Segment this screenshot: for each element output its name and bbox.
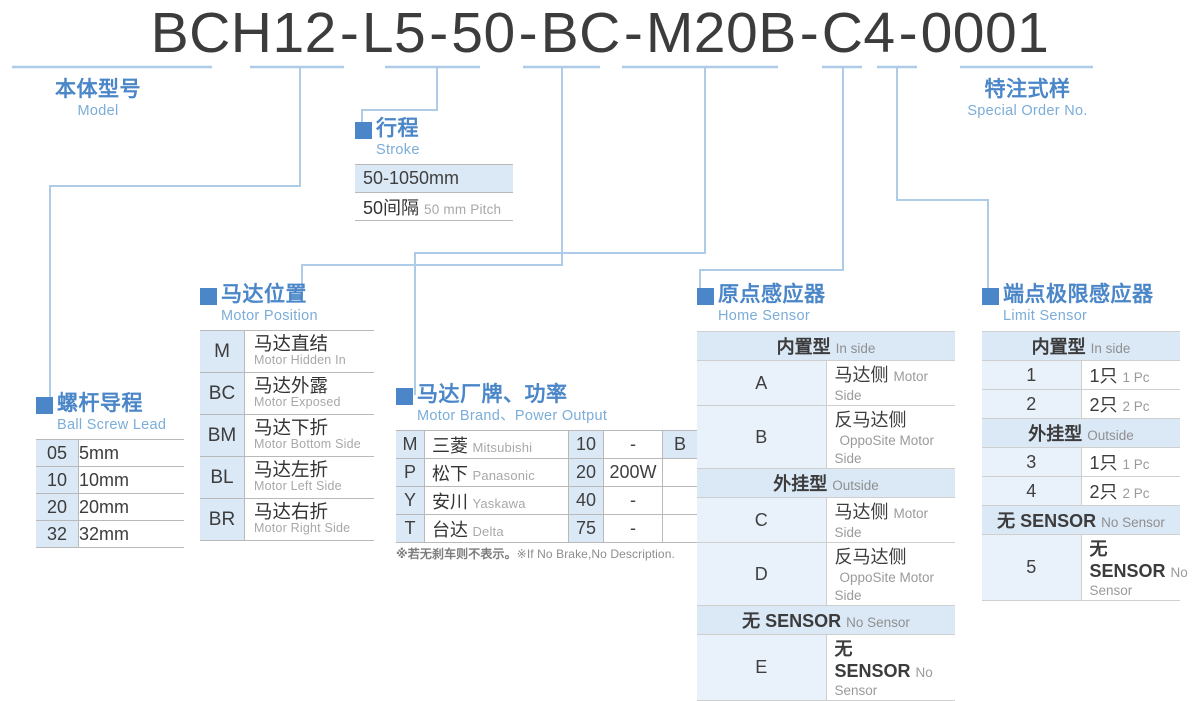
motor-brand-table: M 三菱 Mitsubishi 10 - B P 松下 Panasonic 20…: [396, 430, 697, 543]
model-segment-1: BCH12: [151, 4, 337, 62]
motor-position-desc: 马达直结 Motor Hidden In: [245, 331, 375, 373]
limit-sensor-code: 5: [982, 535, 1081, 601]
brand-name-cn: 安川: [432, 492, 468, 512]
table-row: 1 1只1 Pc: [982, 361, 1180, 390]
group-model-title-cn: 本体型号: [55, 78, 141, 102]
group-ball-screw-lead: 螺杆导程 Ball Screw Lead 05 5mm 10 10mm 20 2…: [36, 392, 184, 548]
table-row: B 反马达侧OppoSite Motor Side: [697, 406, 955, 469]
table-row: P 松下 Panasonic 20 200W: [396, 459, 697, 487]
group-lead-header: 螺杆导程: [36, 392, 184, 416]
table-row: M 三菱 Mitsubishi 10 - B: [396, 431, 697, 459]
group-limit-sensor-header: 端点极限感应器: [982, 283, 1180, 307]
group-motor-brand-title-en: Motor Brand、Power Output: [417, 407, 697, 425]
power-value: -: [604, 487, 663, 515]
power-code: 10: [569, 431, 604, 459]
model-dash: -: [516, 4, 541, 62]
group-motor-position: 马达位置 Motor Position M 马达直结 Motor Hidden …: [200, 283, 374, 541]
motor-position-desc-en: Motor Bottom Side: [254, 437, 374, 453]
table-row: 内置型In side: [697, 332, 955, 361]
band-label-en: No Sensor: [846, 615, 910, 630]
band-label-cn: 外挂型: [1028, 424, 1082, 444]
group-motor-position-title-en: Motor Position: [221, 307, 374, 325]
home-sensor-desc-en: OppoSite Motor Side: [835, 433, 935, 466]
brand-name-en: Panasonic: [472, 468, 535, 483]
limit-sensor-code: 1: [982, 361, 1081, 390]
stroke-pitch-cn: 50间隔: [363, 198, 419, 218]
limit-sensor-band: 内置型In side: [982, 332, 1180, 361]
table-row: D 反马达侧OppoSite Motor Side: [697, 543, 955, 606]
home-sensor-band: 无 SENSORNo Sensor: [697, 606, 955, 635]
home-sensor-desc-cn: 无 SENSOR: [835, 639, 911, 681]
lead-value: 10mm: [79, 467, 185, 494]
motor-position-desc-cn: 马达左折: [254, 460, 374, 479]
motor-position-code: BL: [200, 457, 245, 499]
limit-sensor-desc: 1只1 Pc: [1081, 361, 1180, 390]
brand-name: 台达 Delta: [425, 515, 569, 543]
group-stroke-title-cn: 行程: [376, 117, 419, 141]
band-label-cn: 内置型: [1032, 337, 1086, 357]
home-sensor-code: C: [697, 498, 826, 543]
table-row: A 马达侧Motor Side: [697, 361, 955, 406]
motor-position-code: BR: [200, 499, 245, 541]
band-label-en: Outside: [1087, 428, 1134, 443]
group-motor-position-header: 马达位置: [200, 283, 374, 307]
group-motor-brand: 马达厂牌、功率 Motor Brand、Power Output M 三菱 Mi…: [396, 383, 697, 562]
table-row: 外挂型Outside: [697, 469, 955, 498]
table-row: Y 安川 Yaskawa 40 -: [396, 487, 697, 515]
table-row: 外挂型Outside: [982, 419, 1180, 448]
group-special-order-title-cn: 特注式样: [940, 78, 1115, 102]
ball-screw-lead-table: 05 5mm 10 10mm 20 20mm 32 32mm: [36, 439, 184, 548]
limit-sensor-code: 2: [982, 390, 1081, 419]
table-row: BR 马达右折 Motor Right Side: [200, 499, 374, 541]
model-dash: -: [426, 4, 451, 62]
limit-sensor-desc: 2只2 Pc: [1081, 390, 1180, 419]
brand-name: 松下 Panasonic: [425, 459, 569, 487]
brand-name: 三菱 Mitsubishi: [425, 431, 569, 459]
band-label-en: In side: [836, 341, 876, 356]
group-model-title-en: Model: [55, 102, 141, 120]
motor-position-desc-cn: 马达下折: [254, 418, 374, 437]
limit-sensor-desc: 2只2 Pc: [1081, 477, 1180, 506]
motor-position-desc-cn: 马达直结: [254, 334, 374, 353]
band-label-en: Outside: [832, 478, 879, 493]
model-segment-6: C4: [822, 4, 896, 62]
brand-code: P: [396, 459, 425, 487]
square-bullet-icon: [36, 397, 53, 414]
motor-brand-note-en: ※If No Brake,No Description.: [517, 547, 675, 561]
group-stroke-header: 行程: [355, 117, 513, 141]
motor-position-desc: 马达右折 Motor Right Side: [245, 499, 375, 541]
limit-sensor-desc-en: 2 Pc: [1123, 399, 1150, 414]
group-motor-brand-header: 马达厂牌、功率: [396, 383, 697, 407]
power-value: 200W: [604, 459, 663, 487]
stroke-range-cell: 50-1050mm: [355, 165, 513, 193]
table-row: 10 10mm: [36, 467, 184, 494]
motor-position-code: BC: [200, 373, 245, 415]
motor-brand-note-cn: ※若无刹车则不表示。: [396, 547, 517, 561]
lead-code: 32: [36, 521, 79, 548]
band-label-cn: 外挂型: [773, 474, 827, 494]
brake-code: [663, 487, 698, 515]
home-sensor-code: D: [697, 543, 826, 606]
motor-position-desc: 马达下折 Motor Bottom Side: [245, 415, 375, 457]
home-sensor-desc: 马达侧Motor Side: [826, 498, 955, 543]
table-row: 4 2只2 Pc: [982, 477, 1180, 506]
band-label-cn: 内置型: [777, 337, 831, 357]
motor-position-desc-en: Motor Right Side: [254, 521, 374, 537]
table-row: BC 马达外露 Motor Exposed: [200, 373, 374, 415]
limit-sensor-desc-en: 1 Pc: [1123, 370, 1150, 385]
model-segment-4: BC: [541, 4, 621, 62]
model-number: BCH12 - L5 - 50 - BC - M20B - C4 - 0001: [0, 4, 1200, 62]
group-home-sensor-title-cn: 原点感应器: [718, 283, 826, 307]
home-sensor-desc: 无 SENSORNo Sensor: [826, 635, 955, 701]
table-row: 20 20mm: [36, 494, 184, 521]
band-label-cn: 无 SENSOR: [997, 511, 1096, 531]
square-bullet-icon: [200, 288, 217, 305]
limit-sensor-desc-cn: 1只: [1090, 453, 1118, 473]
group-stroke: 行程 Stroke 50-1050mm 50间隔 50 mm Pitch: [355, 117, 513, 221]
lead-code: 20: [36, 494, 79, 521]
brand-code: M: [396, 431, 425, 459]
group-special-order-title-en: Special Order No.: [940, 102, 1115, 120]
table-row: 50间隔 50 mm Pitch: [355, 193, 513, 221]
model-segment-2: L5: [362, 4, 426, 62]
home-sensor-desc: 马达侧Motor Side: [826, 361, 955, 406]
model-segment-3: 50: [451, 4, 515, 62]
motor-position-desc-cn: 马达右折: [254, 502, 374, 521]
square-bullet-icon: [396, 388, 413, 405]
home-sensor-band: 内置型In side: [697, 332, 955, 361]
group-limit-sensor: 端点极限感应器 Limit Sensor 内置型In side 1 1只1 Pc…: [982, 283, 1180, 601]
band-label-en: No Sensor: [1101, 515, 1165, 530]
model-segment-7: 0001: [921, 4, 1050, 62]
square-bullet-icon: [982, 288, 999, 305]
limit-sensor-desc-cn: 2只: [1090, 482, 1118, 502]
lead-code: 10: [36, 467, 79, 494]
home-sensor-desc-cn: 马达侧: [835, 365, 889, 385]
group-motor-brand-title-cn: 马达厂牌、功率: [417, 383, 568, 407]
limit-sensor-table: 内置型In side 1 1只1 Pc 2 2只2 Pc 外挂型Outside: [982, 331, 1180, 601]
home-sensor-desc: 反马达侧OppoSite Motor Side: [826, 543, 955, 606]
limit-sensor-desc-en: 2 Pc: [1123, 486, 1150, 501]
limit-sensor-code: 4: [982, 477, 1081, 506]
brand-name-en: Mitsubishi: [472, 440, 532, 455]
table-row: M 马达直结 Motor Hidden In: [200, 331, 374, 373]
motor-position-desc-en: Motor Hidden In: [254, 353, 374, 369]
brake-code: B: [663, 431, 698, 459]
group-stroke-title-en: Stroke: [376, 141, 513, 159]
table-row: 无 SENSORNo Sensor: [982, 506, 1180, 535]
brand-name-en: Yaskawa: [472, 496, 525, 511]
limit-sensor-desc-cn: 1只: [1090, 366, 1118, 386]
stroke-table: 50-1050mm 50间隔 50 mm Pitch: [355, 164, 513, 221]
table-row: 3 1只1 Pc: [982, 448, 1180, 477]
limit-sensor-band: 无 SENSORNo Sensor: [982, 506, 1180, 535]
home-sensor-desc-cn: 反马达侧: [835, 547, 907, 567]
lead-value: 5mm: [79, 440, 185, 467]
group-lead-title-cn: 螺杆导程: [57, 392, 143, 416]
table-row: 05 5mm: [36, 440, 184, 467]
table-row: E 无 SENSORNo Sensor: [697, 635, 955, 701]
power-code: 20: [569, 459, 604, 487]
motor-position-desc-cn: 马达外露: [254, 376, 374, 395]
power-code: 40: [569, 487, 604, 515]
motor-position-desc-en: Motor Exposed: [254, 395, 374, 411]
brand-name-en: Delta: [472, 524, 503, 539]
limit-sensor-band: 外挂型Outside: [982, 419, 1180, 448]
home-sensor-code: B: [697, 406, 826, 469]
table-row: 内置型In side: [982, 332, 1180, 361]
limit-sensor-desc: 1只1 Pc: [1081, 448, 1180, 477]
brake-code: [663, 515, 698, 543]
motor-position-desc: 马达左折 Motor Left Side: [245, 457, 375, 499]
table-row: C 马达侧Motor Side: [697, 498, 955, 543]
lead-value: 32mm: [79, 521, 185, 548]
model-dash: -: [896, 4, 921, 62]
group-model: 本体型号 Model: [55, 78, 141, 120]
brake-code: [663, 459, 698, 487]
motor-position-code: BM: [200, 415, 245, 457]
table-row: 50-1050mm: [355, 165, 513, 193]
table-row: BM 马达下折 Motor Bottom Side: [200, 415, 374, 457]
home-sensor-code: A: [697, 361, 826, 406]
limit-sensor-code: 3: [982, 448, 1081, 477]
brand-name-cn: 台达: [432, 520, 468, 540]
motor-position-desc-en: Motor Left Side: [254, 479, 374, 495]
limit-sensor-desc-en: 1 Pc: [1123, 457, 1150, 472]
table-row: 32 32mm: [36, 521, 184, 548]
group-lead-title-en: Ball Screw Lead: [57, 416, 184, 434]
table-row: 5 无 SENSORNo Sensor: [982, 535, 1180, 601]
power-value: -: [604, 431, 663, 459]
group-limit-sensor-title-en: Limit Sensor: [1003, 307, 1180, 325]
limit-sensor-desc: 无 SENSORNo Sensor: [1081, 535, 1180, 601]
stroke-pitch-en: 50 mm Pitch: [424, 202, 501, 217]
brand-code: Y: [396, 487, 425, 515]
table-row: 2 2只2 Pc: [982, 390, 1180, 419]
model-dash: -: [337, 4, 362, 62]
model-dash: -: [797, 4, 822, 62]
motor-position-desc: 马达外露 Motor Exposed: [245, 373, 375, 415]
model-dash: -: [621, 4, 646, 62]
table-row: 无 SENSORNo Sensor: [697, 606, 955, 635]
home-sensor-table: 内置型In side A 马达侧Motor Side B 反马达侧OppoSit…: [697, 331, 955, 701]
home-sensor-desc-cn: 马达侧: [835, 502, 889, 522]
home-sensor-code: E: [697, 635, 826, 701]
power-value: -: [604, 515, 663, 543]
group-special-order: 特注式样 Special Order No.: [940, 78, 1115, 120]
band-label-en: In side: [1091, 341, 1131, 356]
square-bullet-icon: [697, 288, 714, 305]
brand-code: T: [396, 515, 425, 543]
table-row: BL 马达左折 Motor Left Side: [200, 457, 374, 499]
home-sensor-desc: 反马达侧OppoSite Motor Side: [826, 406, 955, 469]
square-bullet-icon: [355, 122, 372, 139]
model-segment-5: M20B: [646, 4, 797, 62]
spec-diagram: BCH12 - L5 - 50 - BC - M20B - C4 - 0001 …: [0, 0, 1200, 575]
lead-value: 20mm: [79, 494, 185, 521]
group-home-sensor-header: 原点感应器: [697, 283, 955, 307]
brand-name: 安川 Yaskawa: [425, 487, 569, 515]
motor-position-table: M 马达直结 Motor Hidden In BC 马达外露 Motor Exp…: [200, 330, 374, 541]
group-home-sensor: 原点感应器 Home Sensor 内置型In side A 马达侧Motor …: [697, 283, 955, 701]
table-row: T 台达 Delta 75 -: [396, 515, 697, 543]
home-sensor-band: 外挂型Outside: [697, 469, 955, 498]
home-sensor-desc-cn: 反马达侧: [835, 410, 907, 430]
motor-brand-note: ※若无刹车则不表示。※If No Brake,No Description.: [396, 545, 697, 562]
group-limit-sensor-title-cn: 端点极限感应器: [1003, 283, 1154, 307]
motor-position-code: M: [200, 331, 245, 373]
brand-name-cn: 松下: [432, 464, 468, 484]
stroke-pitch-cell: 50间隔 50 mm Pitch: [355, 193, 513, 221]
band-label-cn: 无 SENSOR: [742, 611, 841, 631]
lead-code: 05: [36, 440, 79, 467]
limit-sensor-desc-cn: 2只: [1090, 395, 1118, 415]
power-code: 75: [569, 515, 604, 543]
brand-name-cn: 三菱: [432, 436, 468, 456]
group-home-sensor-title-en: Home Sensor: [718, 307, 955, 325]
group-motor-position-title-cn: 马达位置: [221, 283, 307, 307]
